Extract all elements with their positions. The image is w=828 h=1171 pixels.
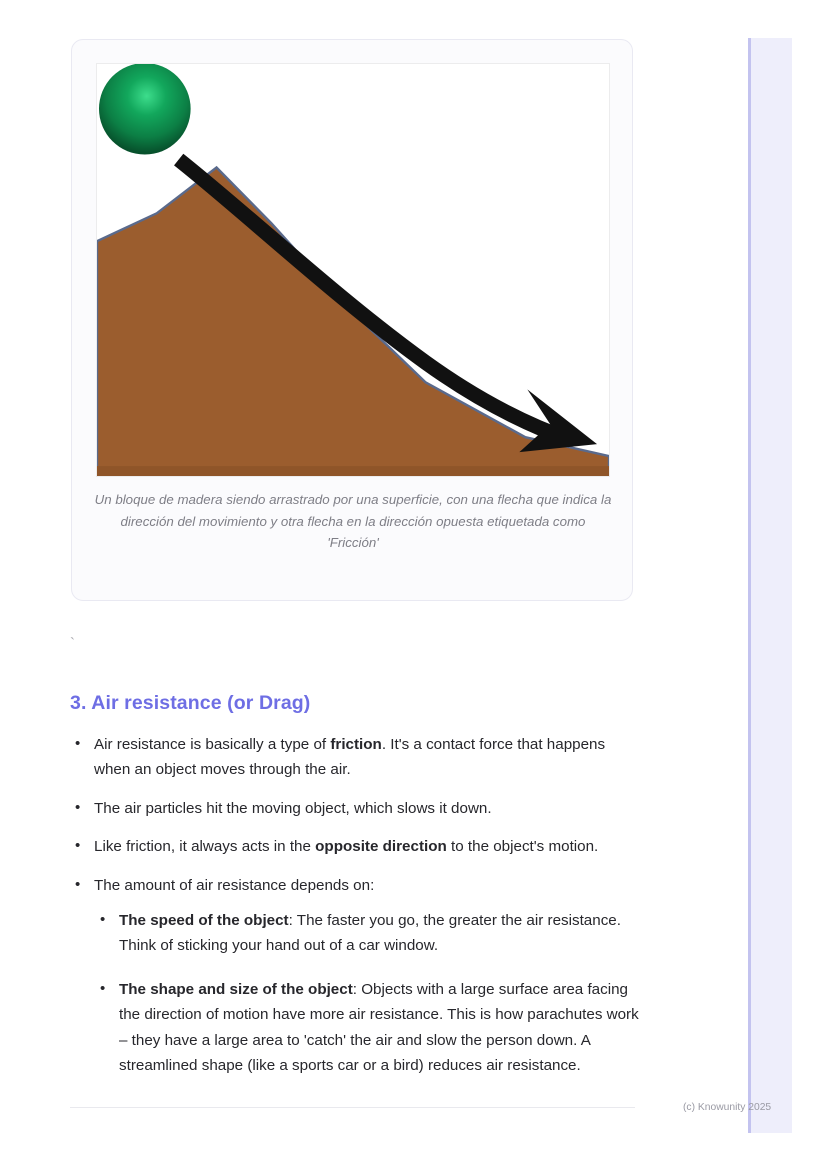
sub-bullet-list: The speed of the object: The faster you … [94,908,640,1078]
body-content: Air resistance is basically a type of fr… [70,732,640,1091]
bullet-text: The amount of air resistance depends on: [94,877,374,894]
figure-caption: Un bloque de madera siendo arrastrado po… [94,489,612,554]
section-heading: 3. Air resistance (or Drag) [70,692,310,715]
bullet-text: to the object's motion. [447,838,598,855]
sub-bullet-item: The shape and size of the object: Object… [94,977,640,1079]
copyright-watermark: (c) Knowunity 2025 [683,1102,771,1113]
bullet-text-bold: The shape and size of the object [119,981,353,998]
bullet-text-bold: opposite direction [315,838,447,855]
bullet-item: The air particles hit the moving object,… [70,796,640,821]
sub-bullet-item: The speed of the object: The faster you … [94,908,640,959]
footer-divider [70,1107,635,1108]
bullet-text-bold: The speed of the object [119,912,289,929]
ball-rolling-down-slope-illustration [96,63,610,477]
bullet-text: Air resistance is basically a type of [94,736,330,753]
ground-strip [97,466,609,476]
bullet-list: Air resistance is basically a type of fr… [70,732,640,1078]
bullet-item: The amount of air resistance depends on:… [70,873,640,1079]
figure-card: Un bloque de madera siendo arrastrado po… [71,39,633,601]
bullet-item: Air resistance is basically a type of fr… [70,732,640,783]
bullet-text-bold: friction [330,736,381,753]
bullet-text: Like friction, it always acts in the [94,838,315,855]
right-side-panel[interactable] [748,38,792,1133]
slope-diagram-svg [97,64,609,476]
bullet-item: Like friction, it always acts in the opp… [70,834,640,859]
document-page: Un bloque de madera siendo arrastrado po… [0,0,710,1171]
bullet-text: The air particles hit the moving object,… [94,800,492,817]
stray-backtick-text: ` [70,634,75,654]
green-ball [99,64,191,155]
